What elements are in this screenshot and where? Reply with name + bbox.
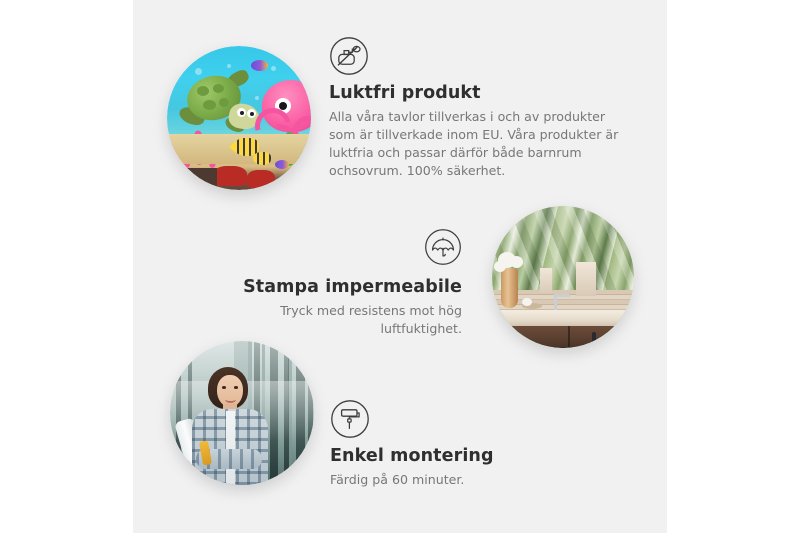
- feature-title: Stampa impermeabile: [200, 277, 462, 297]
- feature-icon-wrap: [330, 399, 590, 439]
- feature-title: Luktfri produkt: [329, 83, 625, 103]
- umbrella-icon: [424, 228, 462, 266]
- no-perfume-icon: [329, 36, 369, 76]
- photo-woman-with-wallpaper-roll: [170, 341, 314, 485]
- paint-roller-icon: [330, 399, 370, 439]
- feature-easy-mounting: Enkel montering Färdig på 60 minuter.: [330, 399, 590, 489]
- feature-title: Enkel montering: [330, 446, 590, 466]
- feature-icon-wrap: [329, 36, 625, 76]
- feature-waterproof-print: Stampa impermeabile Tryck med resistens …: [200, 228, 462, 338]
- feature-description: Färdig på 60 minuter.: [330, 471, 590, 489]
- feature-description: Alla våra tavlor tillverkas i och av pro…: [329, 108, 625, 180]
- feature-description: Tryck med resistens mot hög luftfuktighe…: [200, 302, 462, 338]
- photo-bathroom-tropical-wallpaper: [492, 206, 634, 348]
- photo-underwater-kids-mural: [167, 46, 311, 190]
- feature-icon-wrap: [200, 228, 462, 270]
- product-feature-banner: Luktfri produkt Alla våra tavlor tillver…: [0, 0, 800, 533]
- feature-odour-free: Luktfri produkt Alla våra tavlor tillver…: [329, 36, 625, 180]
